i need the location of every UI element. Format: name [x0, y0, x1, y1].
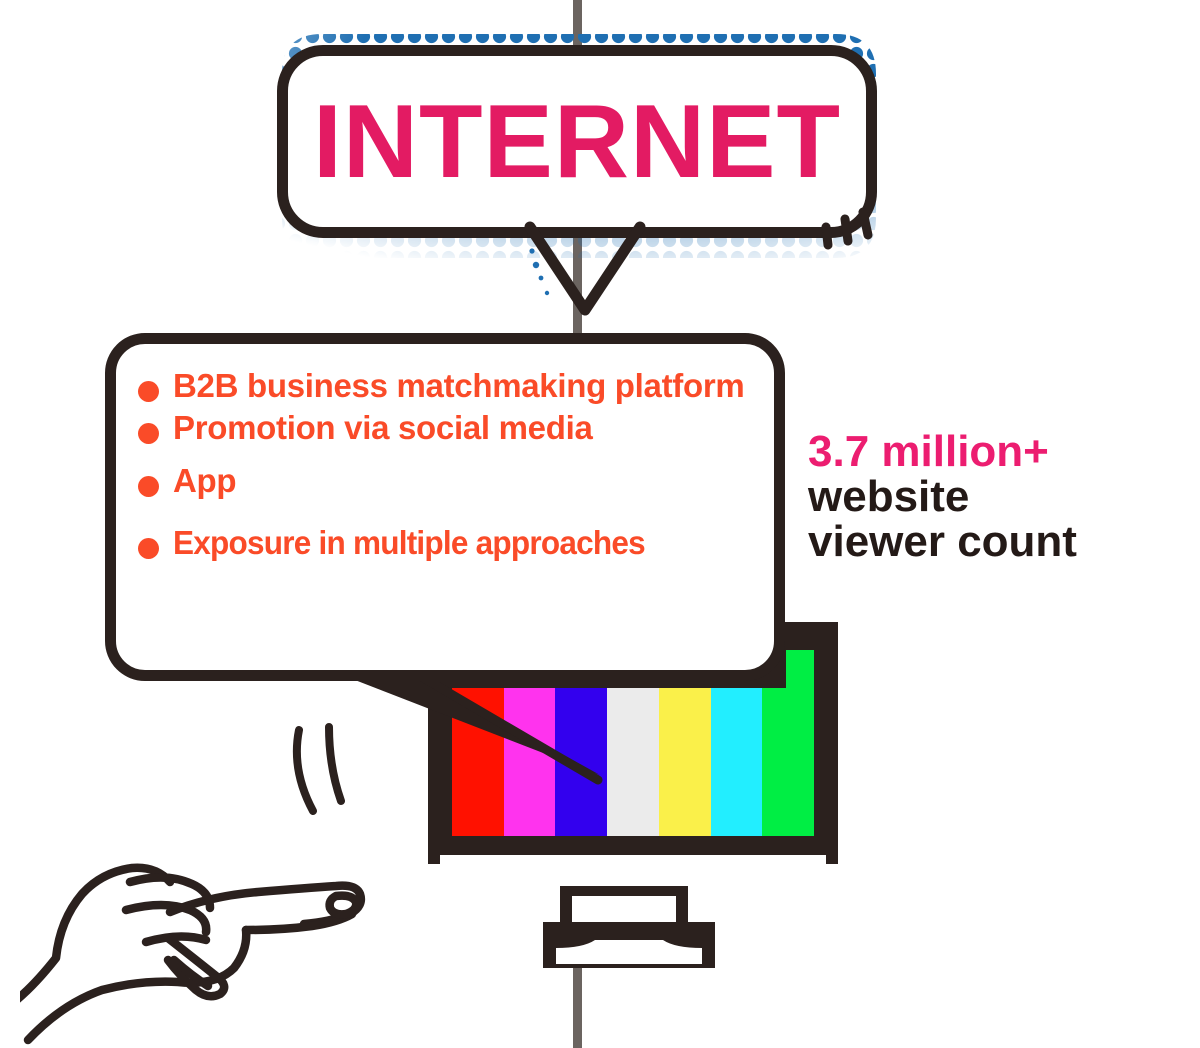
viewer-count-label-line1: website [808, 475, 1188, 520]
list-item: Promotion via social media [138, 410, 764, 446]
infographic-canvas: INTERNET [0, 0, 1200, 1048]
vertical-pole-bottom [573, 955, 582, 1048]
list-item: B2B business matchmaking platform [138, 368, 764, 404]
list-item-label: App [173, 463, 236, 499]
color-bar-cyan [711, 688, 763, 836]
pointing-hand-icon [20, 790, 420, 1048]
internet-label: INTERNET [288, 90, 866, 194]
list-item: Exposure in multiple approaches [138, 525, 764, 561]
list-item-label: B2B business matchmaking platform [173, 368, 744, 404]
internet-bubble-motion-ticks [802, 175, 912, 265]
features-list: B2B business matchmaking platform Promot… [138, 368, 764, 563]
color-bar-green [762, 688, 814, 836]
bullet-dot-icon [138, 423, 159, 444]
monitor-neck-top [560, 886, 688, 896]
list-item: App [138, 463, 764, 499]
features-bubble: B2B business matchmaking platform Promot… [105, 333, 785, 681]
bullet-dot-icon [138, 538, 159, 559]
stats-block: 3.7 million+ website viewer count [808, 430, 1188, 565]
internet-bubble-tail [470, 215, 700, 330]
bullet-dot-icon [138, 476, 159, 497]
viewer-count-label-line2: viewer count [808, 520, 1188, 565]
color-bar-yellow [659, 688, 711, 836]
viewer-count-value: 3.7 million+ [808, 430, 1188, 475]
internet-bubble: INTERNET [277, 45, 877, 238]
screen-green-extension [786, 650, 814, 690]
monitor-base-slot [543, 922, 715, 968]
bullet-dot-icon [138, 381, 159, 402]
list-item-label: Promotion via social media [173, 410, 593, 446]
list-item-label: Exposure in multiple approaches [173, 525, 645, 561]
